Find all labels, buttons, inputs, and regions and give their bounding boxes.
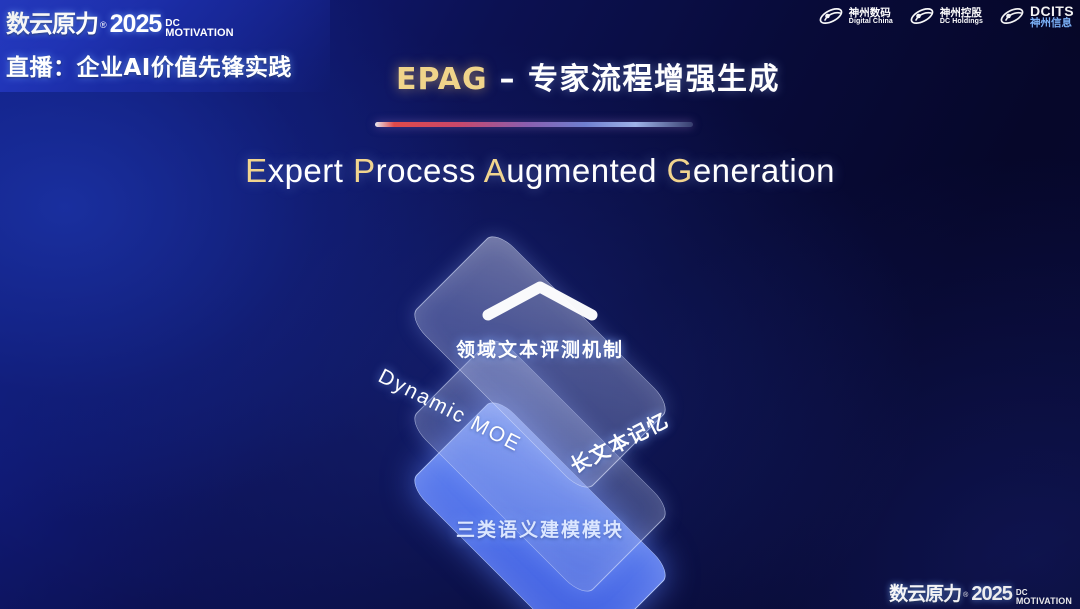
brand-name-cn: 数云原力 [6, 4, 98, 39]
subtitle-cap-e: E [245, 152, 268, 189]
brand-year: 2025 [110, 10, 162, 39]
subtitle-word-process: rocess [376, 152, 484, 189]
swirl-logo-icon [909, 5, 935, 27]
subtitle-word-generation: eneration [693, 152, 835, 189]
swirl-logo-icon [999, 5, 1025, 27]
corp-name-cn: 神州信息 [1030, 18, 1074, 29]
slide-canvas: 数云原力 ® 2025 DC MOTIVATION 直播：企业AI价值先锋实践 … [0, 0, 1080, 609]
chevron-up-icon [478, 277, 602, 323]
subtitle-cap-g: G [667, 152, 693, 189]
subtitle-word-expert: xpert [268, 152, 354, 189]
watermark-name-cn: 数云原力 [889, 579, 961, 606]
title-divider [375, 122, 693, 127]
slide-title-dash: – [488, 62, 528, 97]
brand-logo: 数云原力 ® 2025 DC MOTIVATION [6, 4, 234, 39]
subtitle-word-augmented: ugmented [506, 152, 666, 189]
corp-logo-dc-holdings: 神州控股 DC Holdings [909, 5, 983, 27]
swirl-logo-icon [818, 5, 844, 27]
brand-dc-line2: MOTIVATION [165, 28, 233, 38]
corp-logo-digital-china: 神州数码 Digital China [818, 5, 893, 27]
corp-name-cn: 神州控股 [940, 8, 983, 19]
brand-registered-mark: ® [100, 20, 107, 30]
watermark-registered-mark: ® [963, 592, 968, 599]
watermark-dc-motivation: DC MOTIVATION [1016, 589, 1072, 605]
layered-stack-diagram: 领域文本评测机制 Dynamic MOE 长文本记忆 三类语义建模模块 [265, 215, 815, 600]
slide-title-cn: 专家流程增强生成 [528, 62, 780, 97]
corp-logo-text: DCITS 神州信息 [1030, 4, 1074, 29]
brand-dc-motivation: DC MOTIVATION [165, 19, 233, 38]
slide-title: EPAG – 专家流程增强生成 [0, 54, 1080, 98]
corp-name-en: Digital China [849, 18, 893, 25]
watermark-year: 2025 [971, 583, 1012, 606]
watermark-logo: 数云原力 ® 2025 DC MOTIVATION [889, 579, 1072, 606]
corp-logo-text: 神州控股 DC Holdings [940, 8, 983, 26]
corporate-logo-group: 神州数码 Digital China 神州控股 DC Holdings [818, 4, 1074, 29]
slide-subtitle: Expert Process Augmented Generation [0, 152, 1080, 190]
subtitle-cap-p: P [353, 152, 376, 189]
subtitle-cap-a: A [484, 152, 507, 189]
corp-name-cn: 神州数码 [849, 8, 893, 19]
corp-logo-text: 神州数码 Digital China [849, 8, 893, 26]
corp-name-en: DC Holdings [940, 18, 983, 25]
slide-title-abbrev: EPAG [396, 62, 488, 97]
corp-logo-dcits: DCITS 神州信息 [999, 4, 1074, 29]
watermark-dc-line2: MOTIVATION [1016, 597, 1072, 605]
